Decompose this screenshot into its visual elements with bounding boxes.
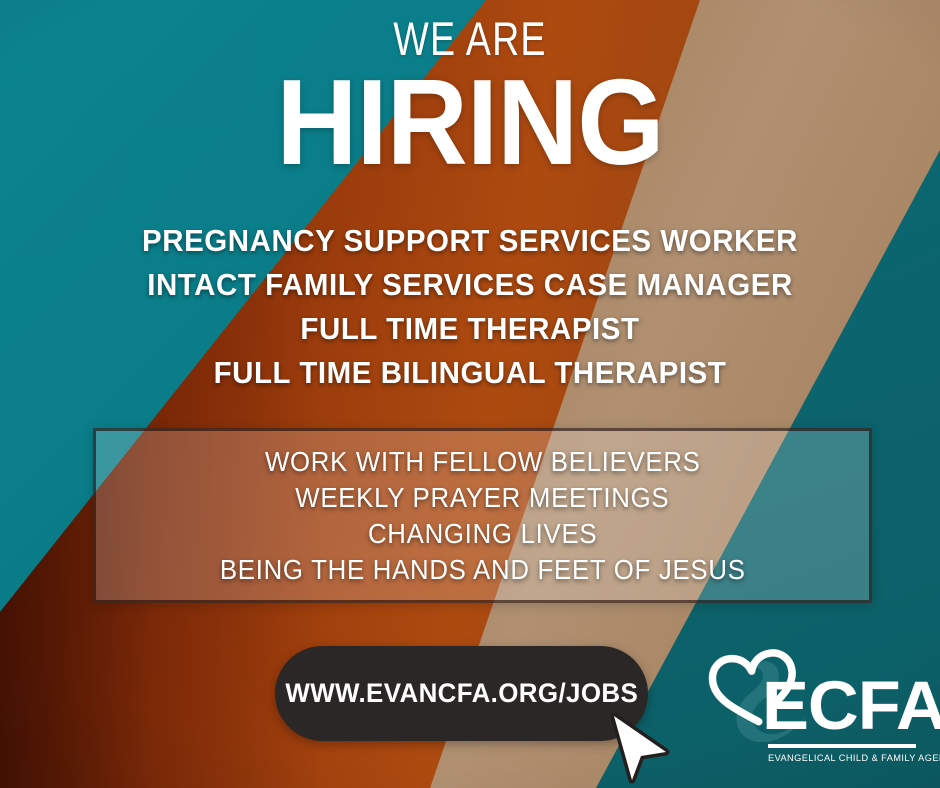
logo-divider xyxy=(768,744,916,748)
headline-block: WE ARE HIRING xyxy=(0,14,940,178)
ecfa-logo: ECFA EVANGELICAL CHILD & FAMILY AGENCY xyxy=(706,648,918,774)
cursor-arrow-icon xyxy=(608,712,670,784)
logo-tagline: EVANGELICAL CHILD & FAMILY AGENCY xyxy=(768,752,920,765)
url-text: WWW.EVANCFA.ORG/JOBS xyxy=(285,678,638,709)
logo-wordmark: ECFA xyxy=(762,671,925,740)
benefit-item: BEING THE HANDS AND FEET OF JESUS xyxy=(220,552,746,588)
job-title-list: PREGNANCY SUPPORT SERVICES WORKER INTACT… xyxy=(0,219,940,395)
benefit-item: WEEKLY PRAYER MEETINGS xyxy=(295,480,669,516)
benefit-item: WORK WITH FELLOW BELIEVERS xyxy=(265,444,701,480)
job-title: PREGNANCY SUPPORT SERVICES WORKER xyxy=(24,219,917,263)
job-title: FULL TIME BILINGUAL THERAPIST xyxy=(24,351,917,395)
headline-hiring: HIRING xyxy=(38,66,903,178)
job-title: FULL TIME THERAPIST xyxy=(24,307,917,351)
job-title: INTACT FAMILY SERVICES CASE MANAGER xyxy=(24,263,917,307)
benefit-item: CHANGING LIVES xyxy=(368,516,597,552)
hiring-poster: WE ARE HIRING PREGNANCY SUPPORT SERVICES… xyxy=(0,0,940,788)
benefits-box: WORK WITH FELLOW BELIEVERS WEEKLY PRAYER… xyxy=(93,428,872,603)
url-pill-button[interactable]: WWW.EVANCFA.ORG/JOBS xyxy=(275,646,648,741)
